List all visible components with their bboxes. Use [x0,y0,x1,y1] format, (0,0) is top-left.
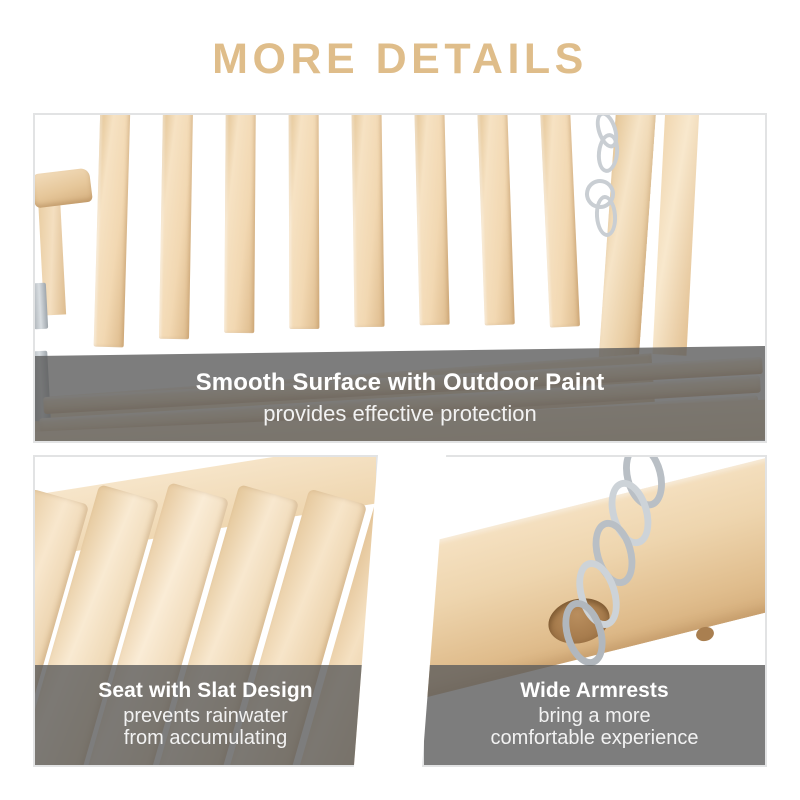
swing-backrest-photo: Smooth Surface with Outdoor Paint provid… [35,115,765,441]
product-detail-page: MORE DETAILS [0,0,800,800]
caption-title: Wide Armrests [424,679,765,703]
detail-panel-bottom-left: Seat with Slat Design prevents rainwater… [33,455,378,767]
backrest-slat [477,115,515,325]
backrest-slat [289,115,320,329]
caption-title: Smooth Surface with Outdoor Paint [35,369,765,397]
detail-panel-bottom-right: Wide Armrests bring a more comfortable e… [422,455,767,767]
mounting-bracket [35,283,48,330]
caption-subtitle-line: from accumulating [35,727,376,749]
backrest-slat [414,115,449,325]
backrest-slat [224,115,256,333]
frame-post-right-outer [652,115,699,356]
caption-overlay-bottom-left: Seat with Slat Design prevents rainwater… [35,665,376,765]
backrest-slat [159,115,193,339]
backrest-slat [94,115,131,347]
caption-subtitle-line: comfortable experience [424,727,765,749]
caption-subtitle: bring a more comfortable experience [424,705,765,750]
seat-slat-closeup-photo: Seat with Slat Design prevents rainwater… [35,457,376,765]
page-title: MORE DETAILS [0,38,800,81]
backrest-slat [540,115,580,328]
caption-title: Seat with Slat Design [35,679,376,703]
caption-subtitle: provides effective protection [35,401,765,427]
caption-overlay-bottom-right: Wide Armrests bring a more comfortable e… [424,665,765,765]
detail-panel-top: Smooth Surface with Outdoor Paint provid… [33,113,767,443]
caption-subtitle-line: prevents rainwater [35,705,376,727]
caption-subtitle: prevents rainwater from accumulating [35,705,376,750]
armrest-end-block [35,168,93,209]
caption-subtitle-line: bring a more [424,705,765,727]
armrest-chain-photo: Wide Armrests bring a more comfortable e… [424,457,765,765]
caption-overlay-top: Smooth Surface with Outdoor Paint provid… [35,346,765,441]
backrest-slat [351,115,384,327]
